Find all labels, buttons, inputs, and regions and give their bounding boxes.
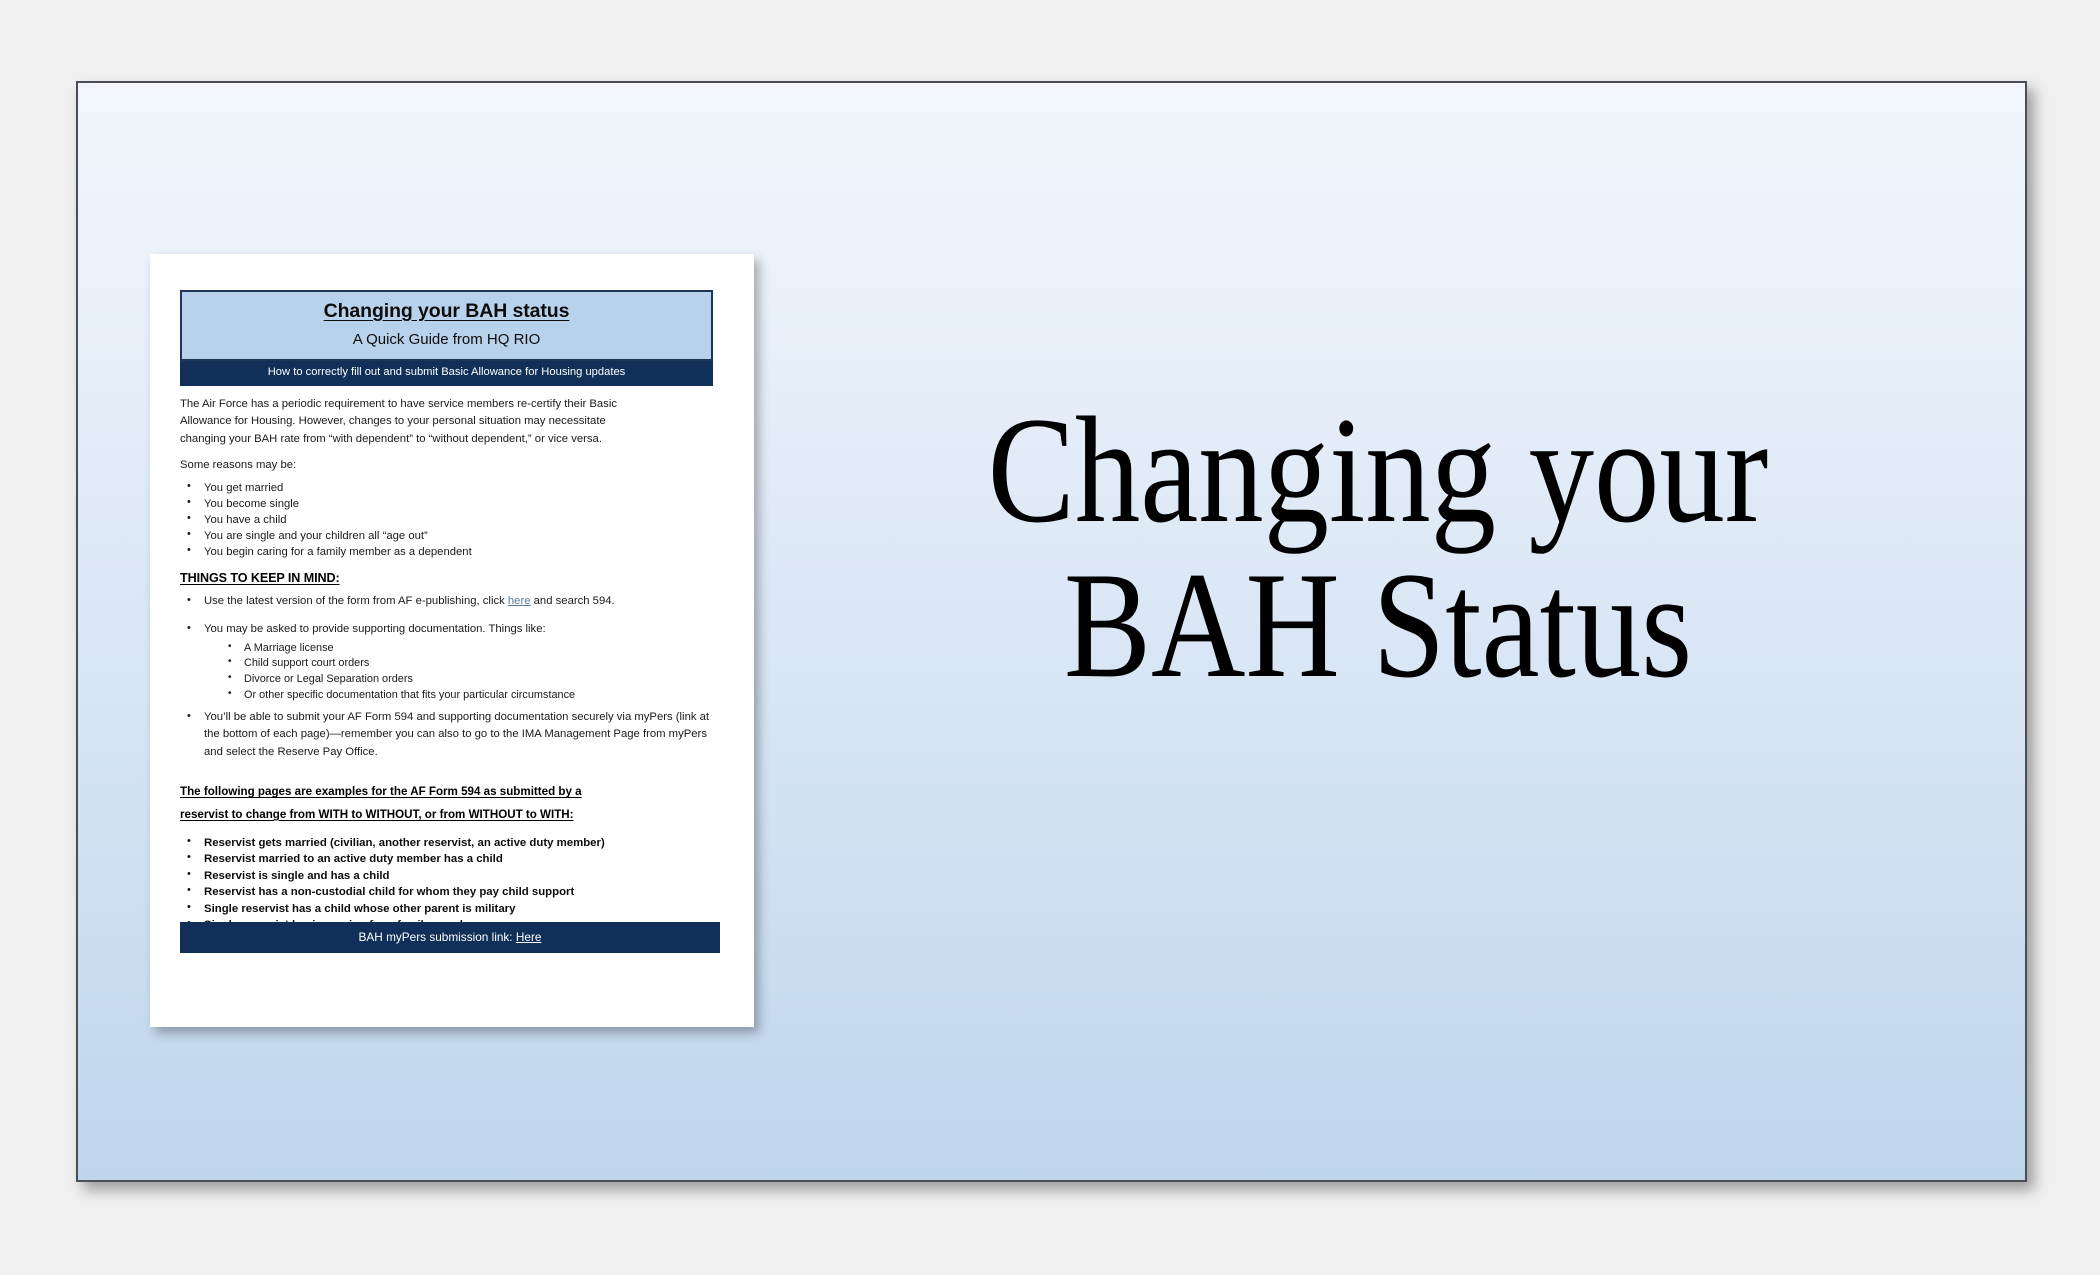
embedded-document-page[interactable]: Changing your BAH status A Quick Guide f… <box>150 254 754 1027</box>
intro-line-3: changing your BAH rate from “with depend… <box>180 431 713 449</box>
intro-line-4: Some reasons may be: <box>180 457 713 475</box>
document-footer-bar: BAH myPers submission link: Here <box>180 922 720 953</box>
document-header-banner: How to correctly fill out and submit Bas… <box>180 361 713 385</box>
intro-paragraph: The Air Force has a periodic requirement… <box>180 396 713 475</box>
intro-line-1: The Air Force has a periodic requirement… <box>180 396 713 414</box>
mypers-here-link[interactable]: Here <box>516 930 542 944</box>
list-item: You have a child <box>180 512 713 528</box>
reasons-list: You get married You become single You ha… <box>180 480 713 560</box>
document-header-subtitle: A Quick Guide from HQ RIO <box>186 331 707 350</box>
list-item: Reservist is single and has a child <box>180 868 713 885</box>
list-item: Single reservist has a child whose other… <box>180 901 713 918</box>
list-item: Reservist married to an active duty memb… <box>180 851 713 868</box>
page-title-line-1: Changing your <box>862 393 1894 548</box>
list-item: A Marriage license <box>204 641 713 657</box>
list-item: You are single and your children all “ag… <box>180 528 713 544</box>
examples-heading-line-1: The following pages are examples for the… <box>180 781 713 804</box>
examples-list: Reservist gets married (civilian, anothe… <box>180 835 713 934</box>
keep-item2-text: You may be asked to provide supporting d… <box>204 623 546 635</box>
presentation-slide: Changing your BAH status A Quick Guide f… <box>76 81 2027 1182</box>
list-item: Divorce or Legal Separation orders <box>204 672 713 688</box>
footer-label: BAH myPers submission link: <box>359 930 516 944</box>
list-item: You become single <box>180 496 713 512</box>
list-item: You get married <box>180 480 713 496</box>
page-title-line-2: BAH Status <box>862 548 1894 703</box>
list-item: Reservist gets married (civilian, anothe… <box>180 835 713 852</box>
list-item: Child support court orders <box>204 656 713 672</box>
list-item: Reservist has a non-custodial child for … <box>180 884 713 901</box>
list-item: You begin caring for a family member as … <box>180 544 713 560</box>
list-item: Use the latest version of the form from … <box>180 593 713 610</box>
things-to-keep-in-mind-heading: THINGS TO KEEP IN MIND: <box>180 571 713 585</box>
examples-heading: The following pages are examples for the… <box>180 781 713 826</box>
af-epublishing-here-link[interactable]: here <box>508 595 531 607</box>
document-header-title: Changing your BAH status <box>186 299 707 323</box>
keep-in-mind-list-continued: You’ll be able to submit your AF Form 59… <box>180 709 713 762</box>
supporting-documentation-list: A Marriage license Child support court o… <box>204 641 713 704</box>
intro-line-2: Allowance for Housing. However, changes … <box>180 413 713 431</box>
examples-heading-line-2: reservist to change from WITH to WITHOUT… <box>180 804 713 827</box>
document-header-box: Changing your BAH status A Quick Guide f… <box>180 290 713 361</box>
keep-item1-before: Use the latest version of the form from … <box>204 595 508 607</box>
keep-in-mind-list: Use the latest version of the form from … <box>180 593 713 704</box>
list-item: Or other specific documentation that fit… <box>204 688 713 704</box>
document-content: Changing your BAH status A Quick Guide f… <box>180 290 713 934</box>
page-title: Changing your BAH Status <box>862 393 1894 703</box>
keep-item1-after: and search 594. <box>531 595 615 607</box>
list-item: You’ll be able to submit your AF Form 59… <box>180 709 713 762</box>
list-item: You may be asked to provide supporting d… <box>180 621 713 704</box>
